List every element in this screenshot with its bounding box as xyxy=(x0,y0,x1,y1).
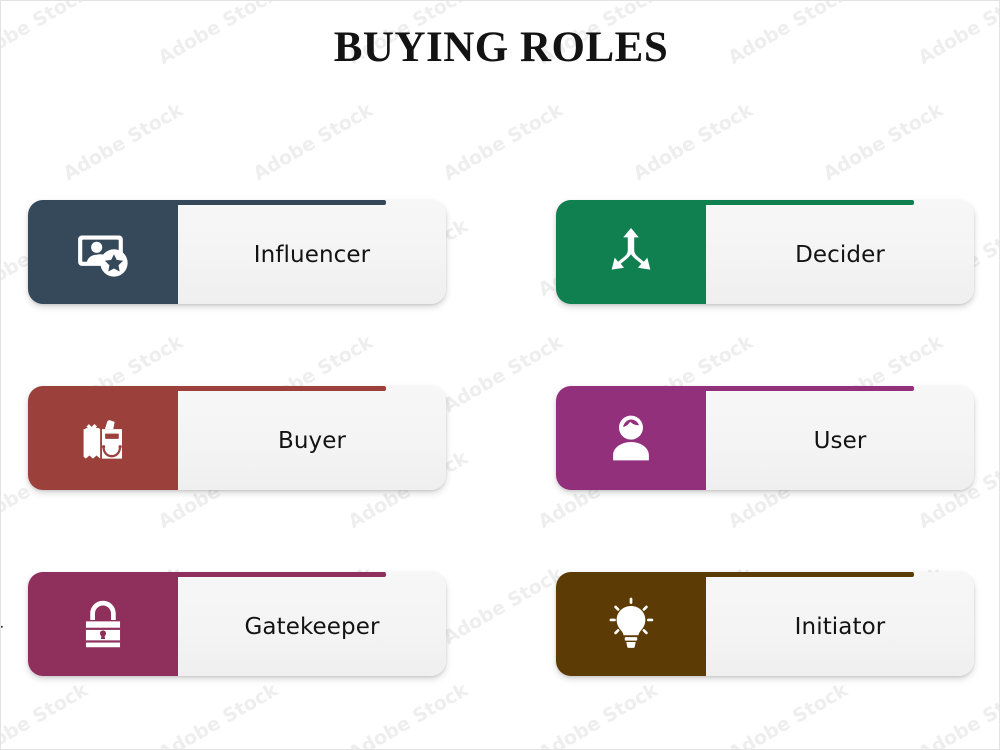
role-card-decider[interactable]: Decider xyxy=(556,200,974,304)
watermark-tile: Adobe Stock xyxy=(59,99,186,185)
watermark-vertical-number: #721280850 xyxy=(0,510,3,619)
watermark-vertical-id: Adobe Stock | #721280850 xyxy=(0,510,3,743)
role-card-gatekeeper[interactable]: Gatekeeper xyxy=(28,572,446,676)
role-card-icon-panel xyxy=(28,386,178,490)
watermark-tile: Adobe Stock xyxy=(534,679,661,750)
padlock-icon xyxy=(76,597,130,651)
role-card-initiator[interactable]: Initiator xyxy=(556,572,974,676)
person-photo-star-icon xyxy=(76,225,130,279)
watermark-tile: Adobe Stock xyxy=(819,99,946,185)
watermark-tile: Adobe Stock xyxy=(439,99,566,185)
role-card-influencer[interactable]: Influencer xyxy=(28,200,446,304)
role-card-label: Gatekeeper xyxy=(178,577,446,676)
three-way-arrow-icon xyxy=(604,225,658,279)
buying-roles-card-grid: Influencer Decider Buyer User G xyxy=(28,200,974,676)
role-card-icon-panel xyxy=(28,572,178,676)
role-card-label: Initiator xyxy=(706,577,974,676)
role-card-label: Influencer xyxy=(178,205,446,304)
shopping-bag-gifts-icon xyxy=(76,411,130,465)
watermark-tile: Adobe Stock xyxy=(344,679,471,750)
role-card-icon-panel xyxy=(556,386,706,490)
user-avatar-icon xyxy=(604,411,658,465)
watermark-tile: Adobe Stock xyxy=(154,679,281,750)
role-card-label: Buyer xyxy=(178,391,446,490)
watermark-tile: Adobe Stock xyxy=(0,679,92,750)
watermark-vertical-prefix: Adobe Stock | xyxy=(0,618,3,743)
infographic-canvas: Adobe StockAdobe StockAdobe StockAdobe S… xyxy=(0,0,1000,750)
role-card-buyer[interactable]: Buyer xyxy=(28,386,446,490)
role-card-user[interactable]: User xyxy=(556,386,974,490)
page-title: BUYING ROLES xyxy=(1,23,1000,72)
role-card-icon-panel xyxy=(556,572,706,676)
watermark-tile: Adobe Stock xyxy=(724,679,851,750)
role-card-label: Decider xyxy=(706,205,974,304)
lightbulb-idea-icon xyxy=(604,597,658,651)
role-card-icon-panel xyxy=(556,200,706,304)
watermark-tile: Adobe Stock xyxy=(629,99,756,185)
role-card-icon-panel xyxy=(28,200,178,304)
watermark-tile: Adobe Stock xyxy=(914,679,1000,750)
watermark-tile: Adobe Stock xyxy=(249,99,376,185)
role-card-label: User xyxy=(706,391,974,490)
